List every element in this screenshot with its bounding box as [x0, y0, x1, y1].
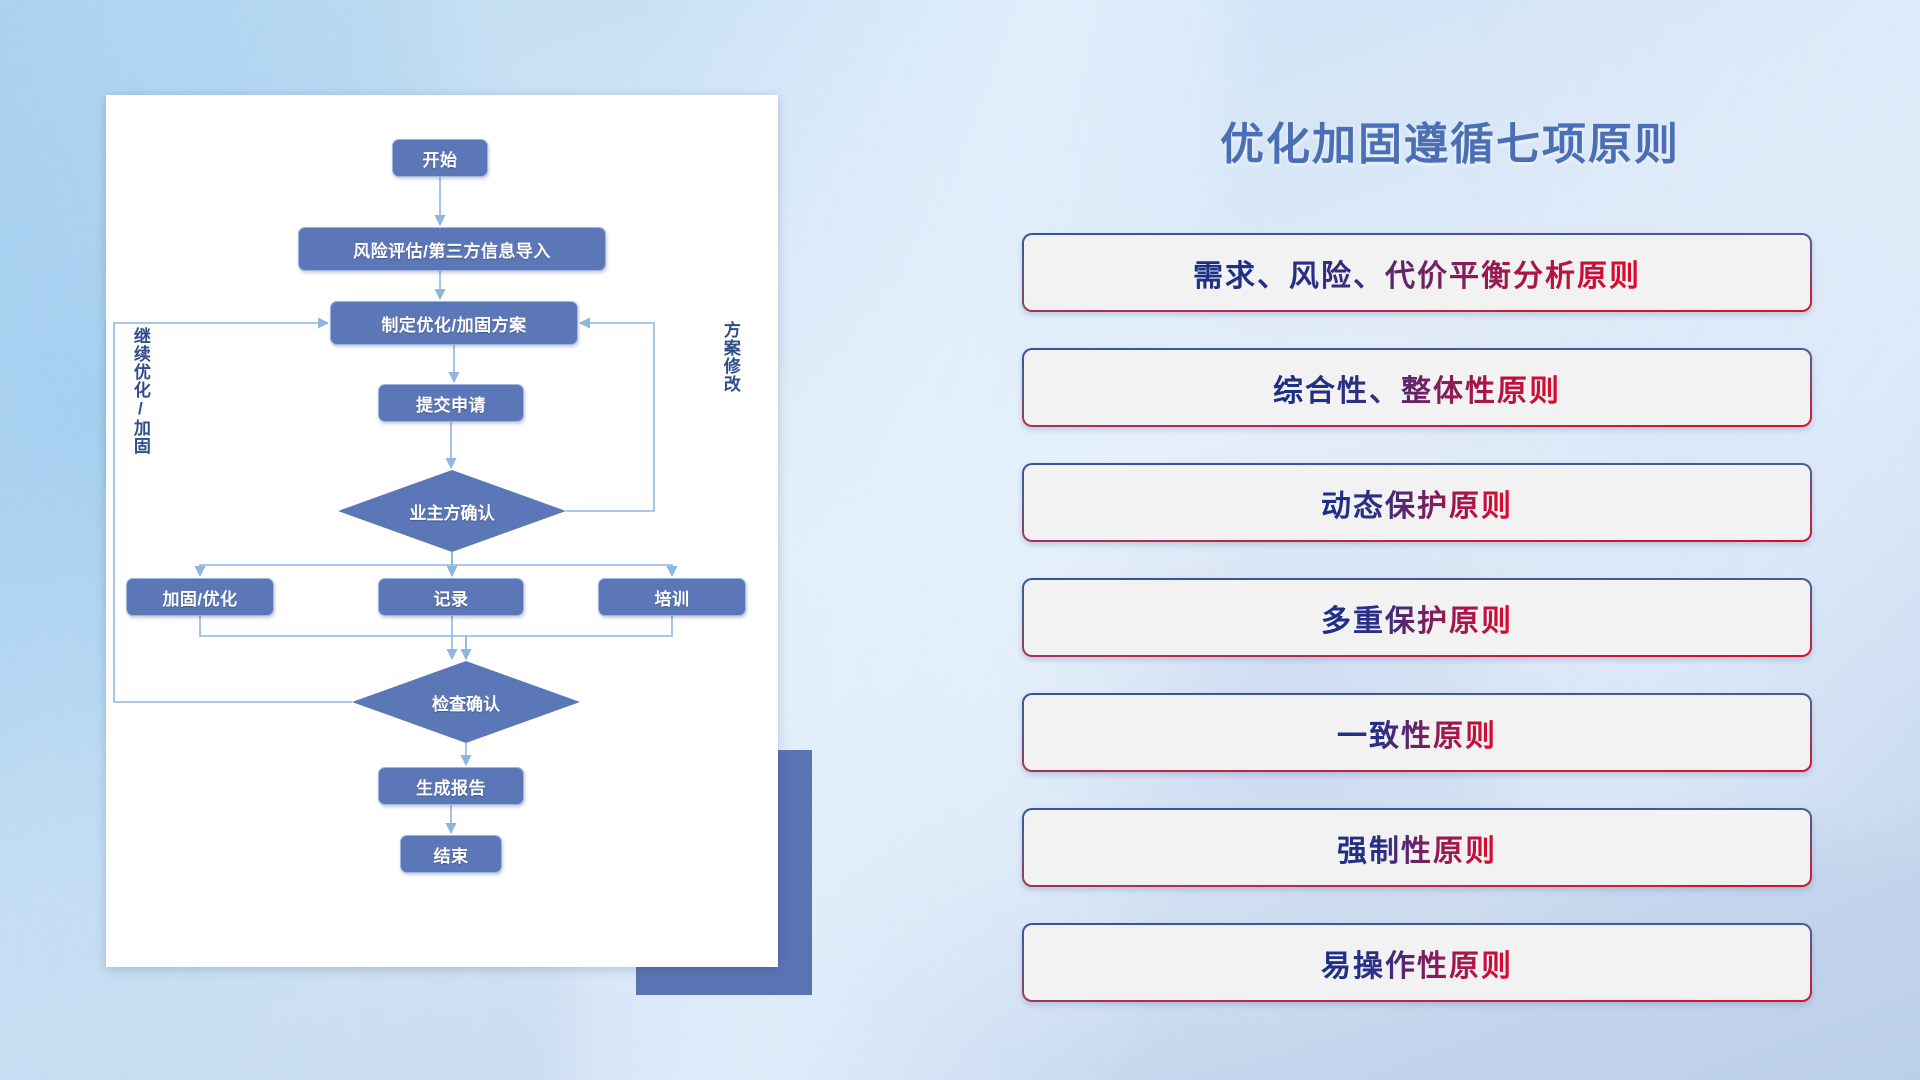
edge-label-continue-optimize: 继续优化/加固: [131, 327, 149, 455]
panel-title: 优化加固遵循七项原则: [1020, 108, 1880, 172]
flow-node-risk-assessment[interactable]: 风险评估/第三方信息导入: [298, 227, 606, 271]
principle-label: 动态保护原则: [1321, 481, 1513, 525]
flow-node-owner-confirm[interactable]: 业主方确认: [338, 470, 566, 552]
principle-card[interactable]: 多重保护原则: [1022, 578, 1812, 657]
principle-label: 需求、风险、代价平衡分析原则: [1193, 251, 1641, 295]
principle-card-inner: 综合性、整体性原则: [1024, 350, 1810, 425]
principle-card[interactable]: 动态保护原则: [1022, 463, 1812, 542]
principle-card-inner: 易操作性原则: [1024, 925, 1810, 1000]
flow-node-owner-confirm-label: 业主方确认: [410, 499, 495, 524]
flow-node-generate-report[interactable]: 生成报告: [378, 767, 524, 805]
principle-card-inner: 强制性原则: [1024, 810, 1810, 885]
principles-list: 需求、风险、代价平衡分析原则 综合性、整体性原则 动态保护原则 多重保护原则 一…: [1022, 233, 1812, 1038]
flow-node-inspection-confirm[interactable]: 检查确认: [352, 661, 580, 743]
principle-label: 一致性原则: [1337, 711, 1497, 755]
flow-node-plan[interactable]: 制定优化/加固方案: [330, 301, 578, 345]
principle-card[interactable]: 易操作性原则: [1022, 923, 1812, 1002]
flow-node-reinforce[interactable]: 加固/优化: [126, 578, 274, 616]
principle-card[interactable]: 强制性原则: [1022, 808, 1812, 887]
principle-card-inner: 多重保护原则: [1024, 580, 1810, 655]
flowchart-card: 开始 风险评估/第三方信息导入 制定优化/加固方案 提交申请 业主方确认 加固/…: [106, 95, 778, 967]
principle-card-inner: 动态保护原则: [1024, 465, 1810, 540]
flow-node-submit-application[interactable]: 提交申请: [378, 384, 524, 422]
principle-card[interactable]: 一致性原则: [1022, 693, 1812, 772]
slide-root: 开始 风险评估/第三方信息导入 制定优化/加固方案 提交申请 业主方确认 加固/…: [0, 0, 1920, 1080]
flow-node-inspection-confirm-label: 检查确认: [432, 690, 500, 715]
flow-node-start[interactable]: 开始: [392, 139, 488, 177]
principle-card-inner: 一致性原则: [1024, 695, 1810, 770]
flow-node-record[interactable]: 记录: [378, 578, 524, 616]
principle-label: 综合性、整体性原则: [1273, 366, 1561, 410]
flow-node-end[interactable]: 结束: [400, 835, 502, 873]
principle-label: 多重保护原则: [1321, 596, 1513, 640]
edge-label-plan-revision: 方案修改: [721, 321, 739, 393]
principle-card-inner: 需求、风险、代价平衡分析原则: [1024, 235, 1810, 310]
principle-label: 易操作性原则: [1321, 941, 1513, 985]
principle-card[interactable]: 需求、风险、代价平衡分析原则: [1022, 233, 1812, 312]
principle-card[interactable]: 综合性、整体性原则: [1022, 348, 1812, 427]
principle-label: 强制性原则: [1337, 826, 1497, 870]
flow-node-training[interactable]: 培训: [598, 578, 746, 616]
